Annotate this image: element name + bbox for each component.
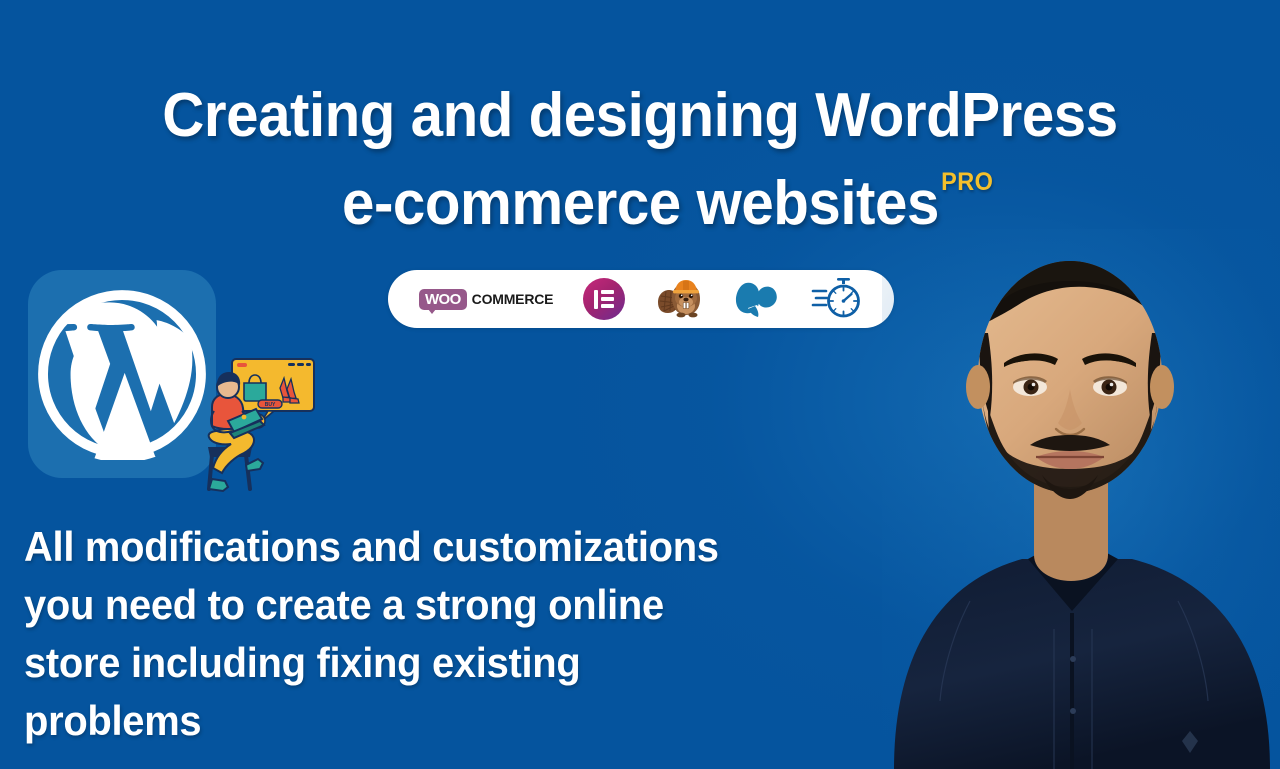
buy-button-label: BUY xyxy=(265,402,276,408)
logo-elementor[interactable] xyxy=(583,276,625,322)
woocommerce-mark: WOO xyxy=(419,289,467,310)
body-line-1: All modifications and customizations xyxy=(24,518,775,576)
beaver-builder-icon xyxy=(655,276,703,322)
wordpress-icon xyxy=(36,288,208,460)
stopwatch-icon xyxy=(811,277,863,321)
pro-badge: PRO xyxy=(941,138,993,226)
logo-divi-cloud[interactable] xyxy=(733,276,781,322)
page-title: Creating and designing WordPress e-comme… xyxy=(0,72,1280,248)
body-copy: All modifications and customizations you… xyxy=(24,518,814,750)
wordpress-logo-tile xyxy=(28,270,216,478)
body-line-3: store including fixing existing xyxy=(24,634,775,692)
service-banner: Creating and designing WordPress e-comme… xyxy=(0,0,1280,769)
body-line-2: you need to create a strong online xyxy=(24,576,775,634)
platform-logo-bar: WOO COMMERCE xyxy=(388,270,894,328)
body-line-4: problems xyxy=(24,692,775,750)
divi-cloud-icon xyxy=(733,278,781,320)
title-line-2: e-commerce websites xyxy=(342,169,939,238)
woman-shopping-illustration: BUY xyxy=(198,345,316,493)
title-line-2-wrap: e-commerce websites PRO xyxy=(342,160,939,248)
logo-woocommerce[interactable]: WOO COMMERCE xyxy=(419,276,553,322)
title-line-1: Creating and designing WordPress xyxy=(38,72,1241,160)
logo-speed-optimization[interactable] xyxy=(811,276,863,322)
service-provider-photo xyxy=(882,229,1280,769)
woocommerce-wordmark: COMMERCE xyxy=(472,291,554,307)
logo-beaver-builder[interactable] xyxy=(655,276,703,322)
elementor-icon xyxy=(583,278,625,320)
